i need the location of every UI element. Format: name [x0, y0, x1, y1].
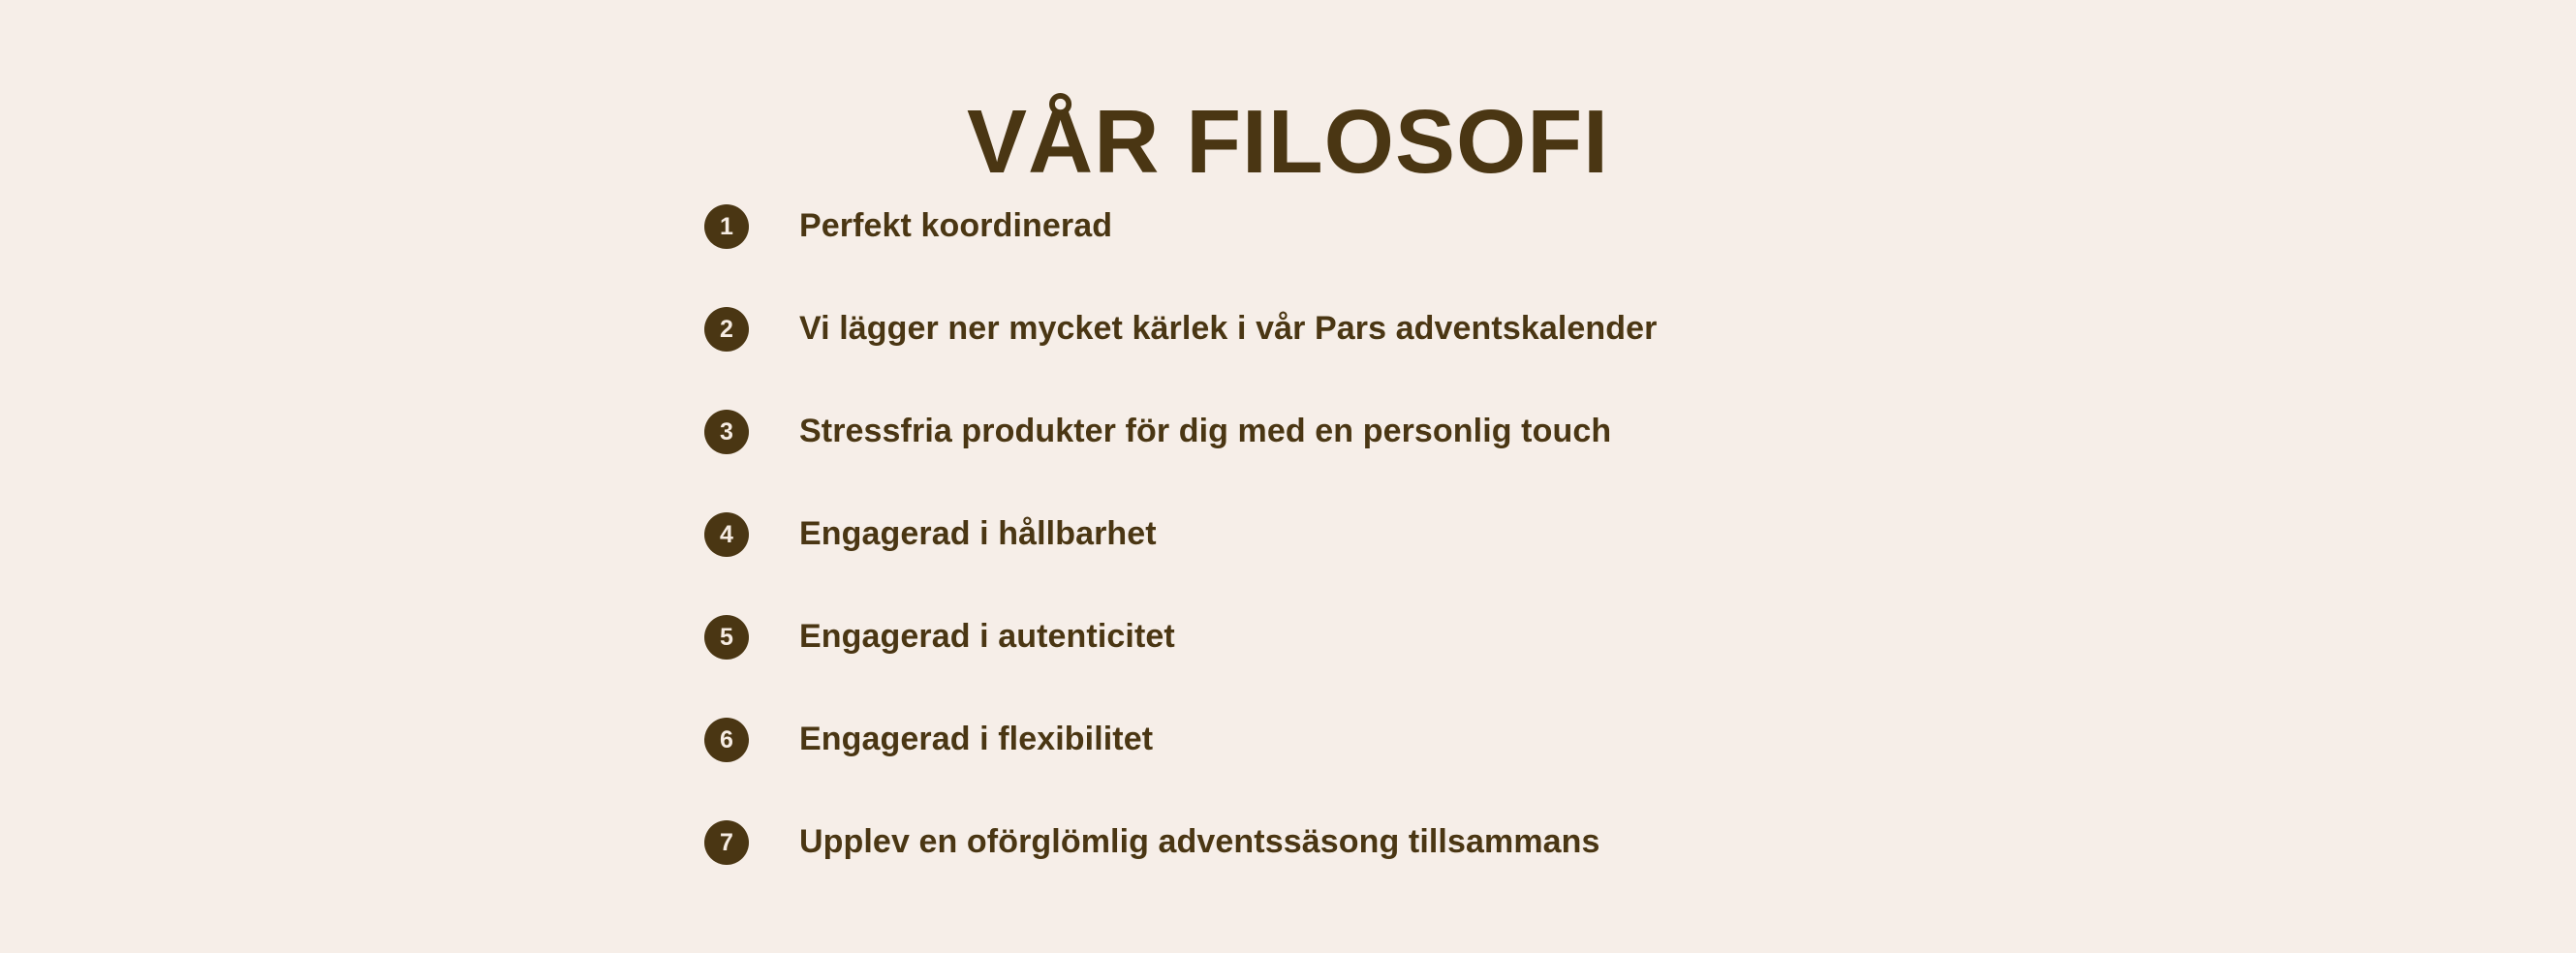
philosophy-section: VÅR FILOSOFI 1 Perfekt koordinerad 2 Vi …	[0, 0, 2576, 953]
number-badge: 4	[704, 512, 749, 557]
list-item-label: Vi lägger ner mycket kärlek i vår Pars a…	[799, 311, 1658, 347]
list-item: 7 Upplev en oförglömlig adventssäsong ti…	[704, 815, 2448, 871]
number-badge: 1	[704, 204, 749, 249]
list-item-label: Engagerad i autenticitet	[799, 619, 1175, 655]
number-badge: 7	[704, 820, 749, 865]
list-item: 5 Engagerad i autenticitet	[704, 609, 2448, 665]
list-item: 6 Engagerad i flexibilitet	[704, 712, 2448, 768]
list-item-label: Perfekt koordinerad	[799, 208, 1112, 244]
number-badge: 2	[704, 307, 749, 352]
list-item: 3 Stressfria produkter för dig med en pe…	[704, 404, 2448, 460]
philosophy-list: 1 Perfekt koordinerad 2 Vi lägger ner my…	[704, 199, 2448, 871]
list-item-label: Stressfria produkter för dig med en pers…	[799, 414, 1611, 449]
list-item: 2 Vi lägger ner mycket kärlek i vår Pars…	[704, 301, 2448, 357]
number-badge: 5	[704, 615, 749, 660]
page-title: VÅR FILOSOFI	[0, 97, 2576, 187]
list-item-label: Engagerad i flexibilitet	[799, 722, 1153, 757]
number-badge: 3	[704, 410, 749, 454]
list-item-label: Engagerad i hållbarhet	[799, 516, 1157, 552]
list-item: 4 Engagerad i hållbarhet	[704, 507, 2448, 563]
number-badge: 6	[704, 718, 749, 762]
list-item-label: Upplev en oförglömlig adventssäsong till…	[799, 824, 1600, 860]
list-item: 1 Perfekt koordinerad	[704, 199, 2448, 255]
